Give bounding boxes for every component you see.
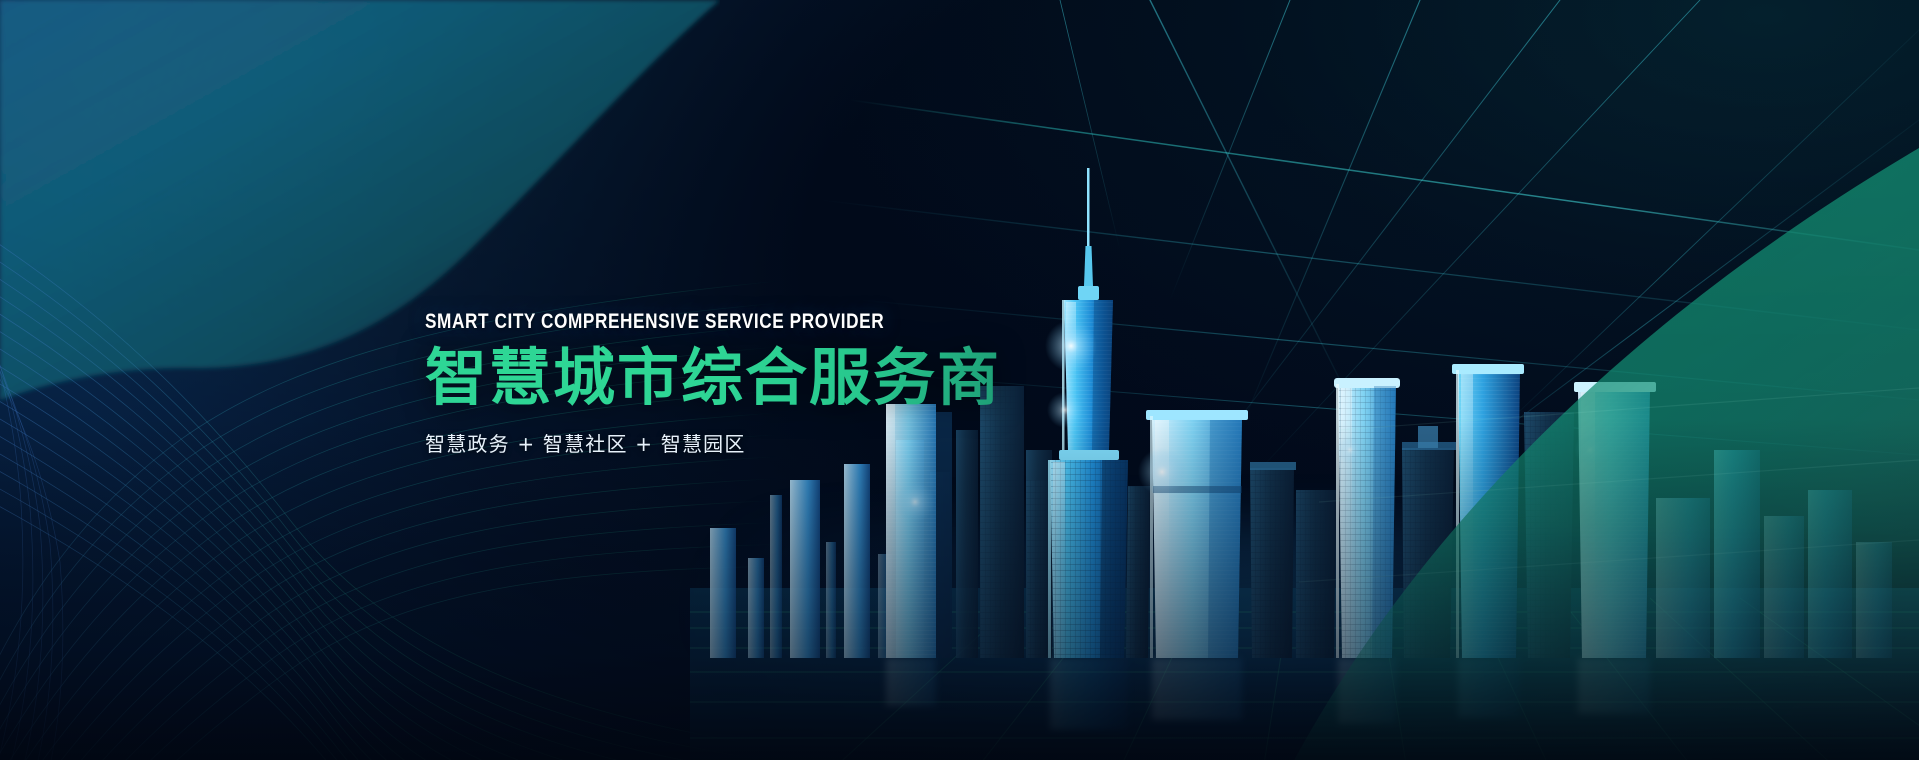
hero-text-block: SMART CITY COMPREHENSIVE SERVICE PROVIDE… bbox=[425, 310, 1185, 457]
subtitle-services-list: 智慧政务 + 智慧社区 + 智慧园区 bbox=[425, 428, 1185, 457]
page-title: 智慧城市综合服务商 bbox=[425, 345, 1185, 412]
smart-city-hero-banner: SMART CITY COMPREHENSIVE SERVICE PROVIDE… bbox=[0, 0, 1919, 760]
eyebrow-english-tagline: SMART CITY COMPREHENSIVE SERVICE PROVIDE… bbox=[425, 310, 1048, 333]
